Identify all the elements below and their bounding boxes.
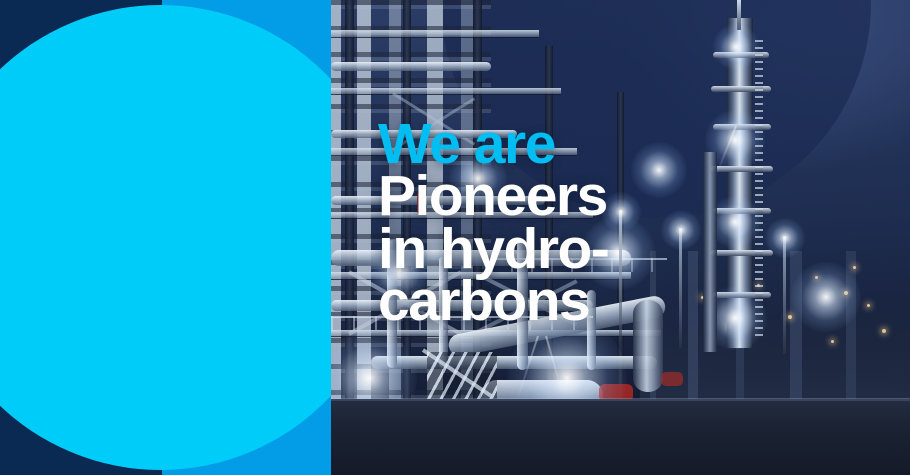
hero-headline: We are Pioneers in hydro- carbons [378,118,898,328]
distant-light [831,340,834,343]
platform-deck [331,30,539,37]
headline-line-1: We are [378,118,898,170]
brand-circle [0,5,331,470]
brand-graphic-panel [0,0,331,475]
headline-line-2: Pioneers [378,170,898,222]
process-pipe [331,62,491,71]
headline-line-4: carbons [378,275,898,327]
platform-deck [331,88,561,94]
plant-ground [331,401,910,475]
headline-line-3: in hydro- [378,223,898,275]
valve-accent [661,372,683,386]
distant-light [882,329,886,333]
hero-banner: We are Pioneers in hydro- carbons [0,0,910,475]
tower-mast [737,0,741,30]
process-pipe [371,356,657,369]
